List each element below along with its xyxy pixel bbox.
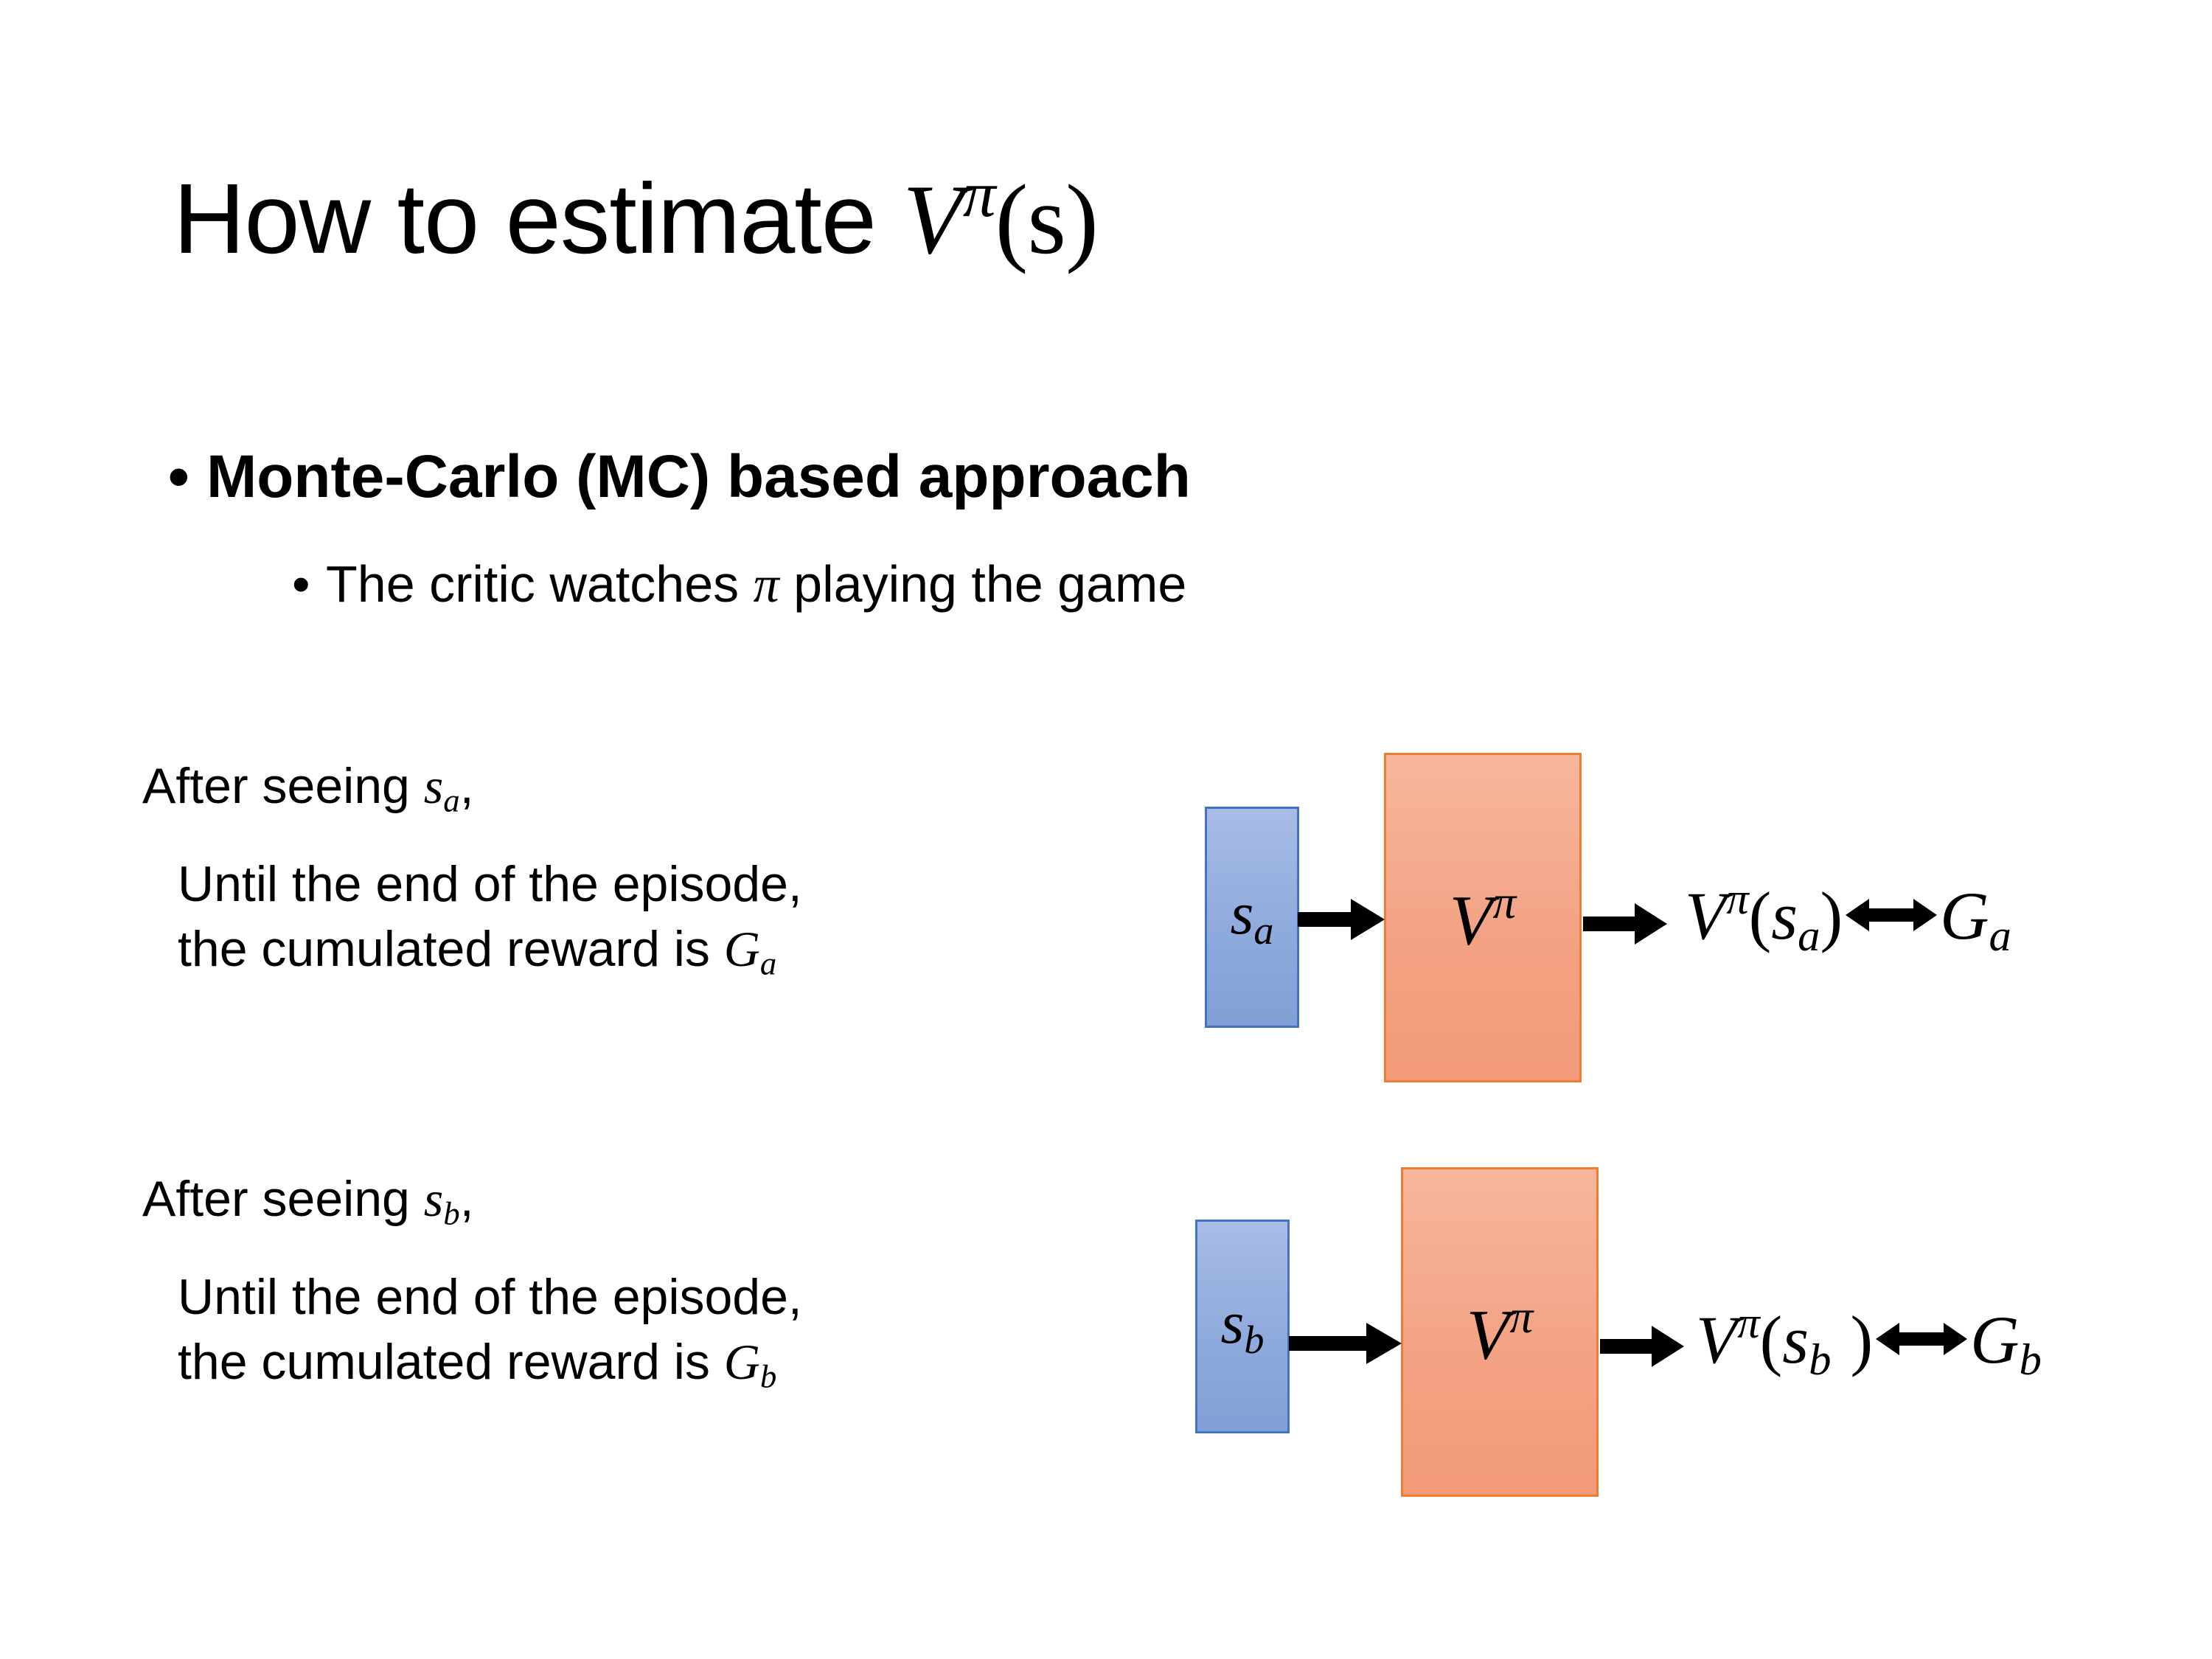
diagram-b-arrow-input-to-model [1289, 1320, 1403, 1367]
explanation-b-body-line2: the cumulated reward is Gb [178, 1329, 802, 1398]
diagram-a-output-arg-base: s [1771, 878, 1798, 953]
diagram-b-target-base: G [1970, 1302, 2019, 1377]
bullet-marker-icon: • [168, 442, 206, 512]
explanation-a-body-line1: Until the end of the episode, [178, 852, 802, 917]
explanation-a-state-subscript: a [443, 782, 459, 819]
explanation-b-return-subscript: b [760, 1358, 776, 1395]
sub-bullet-symbol-pi: π [754, 557, 779, 613]
diagram-a-model-label-base: V [1450, 880, 1493, 959]
sub-bullet-text-before: The critic watches [326, 555, 754, 613]
diagram-b-model-label-base: V [1467, 1295, 1510, 1374]
title-math-V: V [902, 165, 962, 275]
explanation-a-return-symbol: G [724, 921, 760, 977]
sub-bullet-marker-icon: • [292, 554, 326, 614]
bidirectional-arrow-icon [1843, 881, 1940, 949]
diagram-b-model-box: Vπ [1401, 1167, 1599, 1497]
diagram-b-arrow-model-to-output [1600, 1324, 1686, 1369]
diagram-a-model-label: Vπ [1450, 880, 1516, 956]
diagram-a-input-label-base: s [1231, 880, 1254, 947]
bullet-critic-watches: •The critic watches π playing the game [292, 554, 1186, 616]
diagram-a-output-superscript-pi: π [1726, 874, 1748, 924]
diagram-a-output-base: V [1685, 878, 1726, 953]
diagram-a-model-label-sup: π [1492, 877, 1516, 928]
diagram-b-target-sub: b [2020, 1335, 2042, 1385]
diagram-a-output-arg-sub: a [1798, 911, 1820, 961]
diagram-b-output-close-paren: ) [1850, 1302, 1873, 1377]
explanation-b-body: Until the end of the episode, the cumula… [178, 1265, 802, 1398]
explanation-block-b: After seeing sb, Until the end of the ep… [142, 1166, 802, 1398]
explanation-b-body-line2-prefix: the cumulated reward is [178, 1334, 724, 1390]
explanation-b-heading: After seeing sb, [142, 1166, 802, 1235]
diagram-a-input-label-sub: a [1253, 908, 1273, 953]
explanation-b-heading-prefix: After seeing [142, 1171, 424, 1227]
diagram-a-arrow-input-to-model [1298, 896, 1386, 943]
diagram-a-output-open-paren: ( [1749, 878, 1772, 953]
explanation-b-body-line1: Until the end of the episode, [178, 1265, 802, 1329]
bidirectional-arrow-icon [1873, 1305, 1970, 1373]
explanation-a-heading-suffix: , [460, 758, 474, 814]
diagram-b-input-label-base: s [1221, 1289, 1245, 1356]
diagram-b-output-base: V [1696, 1302, 1737, 1377]
diagram-b-model-label-sup: π [1509, 1291, 1533, 1343]
diagram-b-input-box: sb [1195, 1220, 1290, 1433]
title-text: How to estimate [173, 163, 902, 274]
explanation-a-heading: After seeing sa, [142, 754, 802, 822]
explanation-a-state-symbol: s [424, 758, 443, 814]
explanation-a-body-line2: the cumulated reward is Ga [178, 917, 802, 985]
diagram-b-input-label: sb [1221, 1293, 1265, 1360]
diagram-a-input-label: sa [1231, 883, 1274, 950]
slide-canvas: How to estimate Vπ(s) •Monte-Carlo (MC) … [0, 0, 2212, 1659]
explanation-b-state-subscript: b [443, 1195, 459, 1232]
diagram-a-target-sub: a [1989, 911, 2011, 961]
diagram-b-output-arg-base: s [1782, 1302, 1809, 1377]
diagram-b-model-label: Vπ [1467, 1294, 1533, 1370]
diagram-b-output-open-paren: ( [1760, 1302, 1783, 1377]
explanation-b-heading-suffix: , [460, 1171, 474, 1227]
explanation-a-return-subscript: a [760, 945, 776, 982]
sub-bullet-text-after: playing the game [779, 555, 1187, 613]
diagram-a-output-close-paren: ) [1820, 878, 1843, 953]
title-math-superscript-pi: π [963, 159, 995, 231]
diagram-a-model-box: Vπ [1384, 753, 1582, 1082]
explanation-a-heading-prefix: After seeing [142, 758, 424, 814]
explanation-b-state-symbol: s [424, 1171, 443, 1227]
bullet-monte-carlo: •Monte-Carlo (MC) based approach [168, 442, 1191, 512]
diagram-a-target-base: G [1940, 878, 1989, 953]
explanation-block-a: After seeing sa, Until the end of the ep… [142, 754, 802, 985]
explanation-a-body-line2-prefix: the cumulated reward is [178, 921, 724, 977]
explanation-b-return-symbol: G [724, 1334, 760, 1390]
page-title: How to estimate Vπ(s) [173, 159, 1098, 276]
diagram-b-output-arg-sub: b [1809, 1335, 1831, 1385]
diagram-a-output-expression: Vπ(sa)Ga [1685, 877, 2011, 959]
diagram-b-output-superscript-pi: π [1737, 1298, 1759, 1348]
diagram-a-input-box: sa [1205, 807, 1299, 1028]
diagram-a-arrow-model-to-output [1583, 901, 1669, 947]
explanation-a-body: Until the end of the episode, the cumula… [178, 852, 802, 985]
title-math-argument: (s) [995, 165, 1098, 275]
diagram-b-output-expression: Vπ(sb)Gb [1696, 1301, 2042, 1383]
diagram-b-input-label-sub: b [1244, 1318, 1264, 1362]
bullet-monte-carlo-label: Monte-Carlo (MC) based approach [206, 443, 1191, 510]
